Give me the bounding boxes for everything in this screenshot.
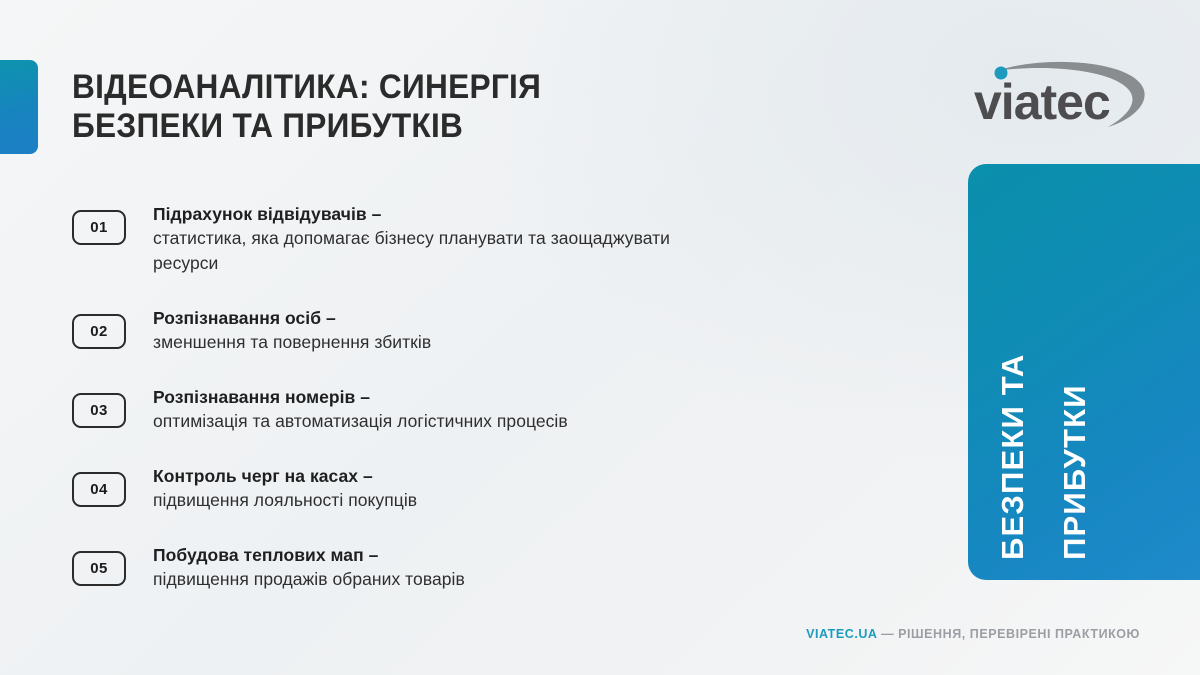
feature-list: 01 Підрахунок відвідувачів – статистика,… <box>72 196 712 592</box>
item-text: Розпізнавання номерів – оптимізація та а… <box>153 379 568 434</box>
item-text: Контроль черг на касах – підвищення лоял… <box>153 458 417 513</box>
item-number-badge: 02 <box>72 314 126 349</box>
logo-wordmark: viatec <box>974 74 1110 130</box>
item-title: Розпізнавання осіб – <box>153 306 431 330</box>
list-item[interactable]: 01 Підрахунок відвідувачів – статистика,… <box>72 196 712 276</box>
list-item[interactable]: 04 Контроль черг на касах – підвищення л… <box>72 458 712 513</box>
item-text: Розпізнавання осіб – зменшення та поверн… <box>153 300 431 355</box>
item-title: Побудова теплових мап – <box>153 543 465 567</box>
item-number-badge: 05 <box>72 551 126 586</box>
list-item[interactable]: 05 Побудова теплових мап – підвищення пр… <box>72 537 712 592</box>
item-text: Побудова теплових мап – підвищення прода… <box>153 537 465 592</box>
item-number-badge: 04 <box>72 472 126 507</box>
item-number-badge: 01 <box>72 210 126 245</box>
side-panel-line-1: БЕЗПЕКИ ТА <box>997 353 1028 560</box>
item-title: Підрахунок відвідувачів – <box>153 202 712 226</box>
item-description: зменшення та повернення збитків <box>153 330 431 355</box>
item-number-badge: 03 <box>72 393 126 428</box>
item-description: підвищення лояльності покупців <box>153 488 417 513</box>
viatec-logo-icon: viatec <box>968 57 1158 139</box>
footer: VIATEC.UA — РІШЕННЯ, ПЕРЕВІРЕНІ ПРАКТИКО… <box>806 627 1140 641</box>
item-title: Контроль черг на касах – <box>153 464 417 488</box>
title-accent-bar <box>0 60 38 154</box>
side-panel: БЕЗПЕКИ ТА ПРИБУТКИ <box>968 164 1200 580</box>
footer-tagline: — РІШЕННЯ, ПЕРЕВІРЕНІ ПРАКТИКОЮ <box>881 627 1140 641</box>
item-title: Розпізнавання номерів – <box>153 385 568 409</box>
viatec-logo: viatec <box>968 57 1158 139</box>
page-title: ВІДЕОАНАЛІТИКА: СИНЕРГІЯ БЕЗПЕКИ ТА ПРИБ… <box>72 68 723 146</box>
list-item[interactable]: 02 Розпізнавання осіб – зменшення та пов… <box>72 300 712 355</box>
item-description: статистика, яка допомагає бізнесу планув… <box>153 226 712 276</box>
item-description: оптимізація та автоматизація логістичних… <box>153 409 568 434</box>
slide-canvas: ВІДЕОАНАЛІТИКА: СИНЕРГІЯ БЕЗПЕКИ ТА ПРИБ… <box>0 0 1200 675</box>
side-panel-line-2: ПРИБУТКИ <box>1059 384 1090 560</box>
list-item[interactable]: 03 Розпізнавання номерів – оптимізація т… <box>72 379 712 434</box>
footer-brand[interactable]: VIATEC.UA <box>806 627 877 641</box>
item-description: підвищення продажів обраних товарів <box>153 567 465 592</box>
item-text: Підрахунок відвідувачів – статистика, як… <box>153 196 712 276</box>
